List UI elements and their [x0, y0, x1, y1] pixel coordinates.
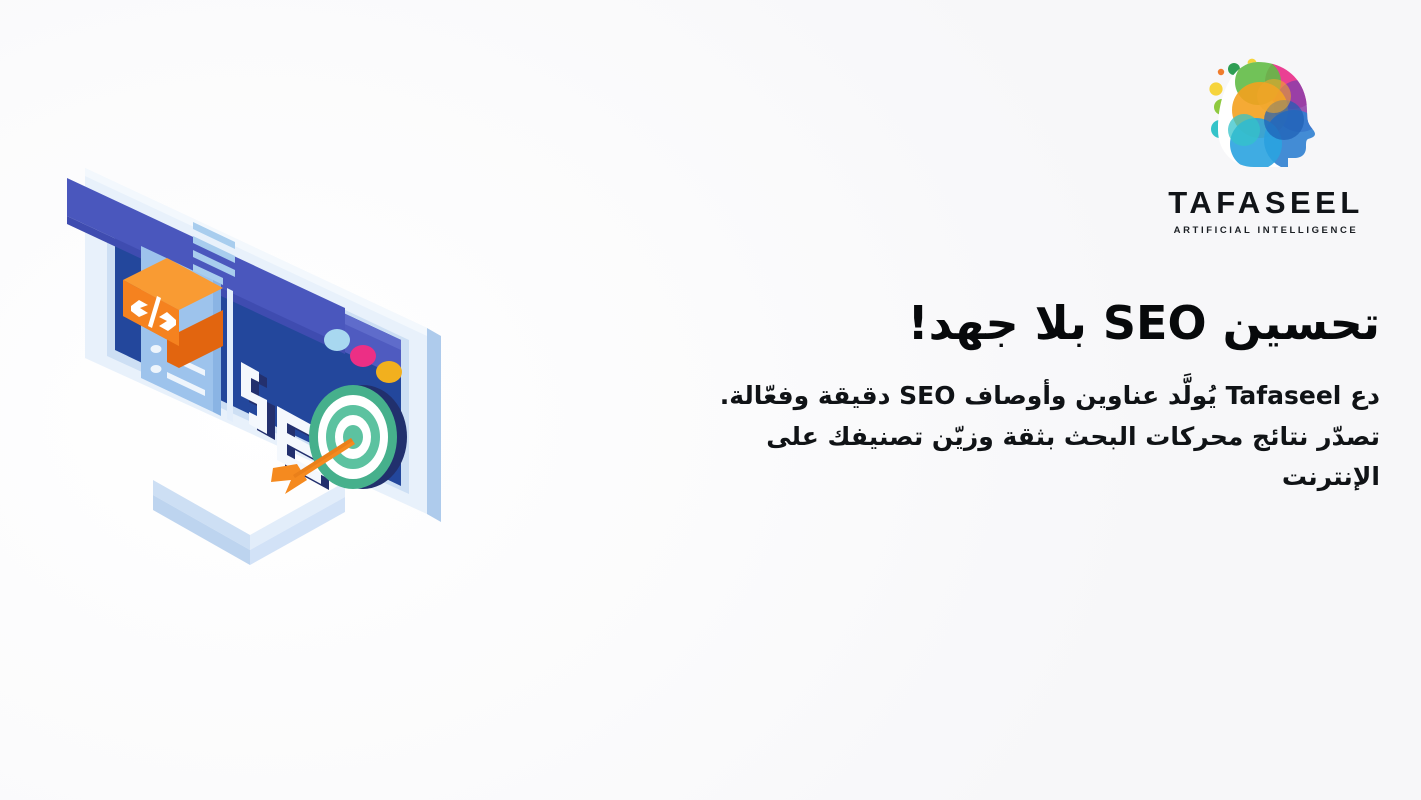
- dartboard-target: [309, 385, 407, 489]
- dot-pink: [350, 345, 376, 367]
- promo-canvas: TAFASEEL ARTIFICIAL INTELLIGENCE تحسين S…: [0, 0, 1421, 800]
- tafaseel-head-logo-icon: [1196, 48, 1336, 173]
- monitor-stand: [153, 480, 345, 565]
- isometric-monitor-svg: [45, 150, 475, 650]
- page-headline: تحسين SEO بلا جهد!: [700, 296, 1380, 350]
- page-body-text: دع Tafaseel يُولَّد عناوين وأوصاف SEO دق…: [700, 376, 1380, 498]
- seo-monitor-illustration: [45, 150, 475, 650]
- dot-light-blue: [324, 329, 350, 351]
- logo-dot-yellow-2: [1209, 82, 1222, 95]
- dot-yellow: [376, 361, 402, 383]
- logo-wordmark: TAFASEEL: [1168, 187, 1364, 218]
- logo-tagline: ARTIFICIAL INTELLIGENCE: [1168, 225, 1364, 236]
- brand-logo-block: TAFASEEL ARTIFICIAL INTELLIGENCE: [1168, 48, 1364, 236]
- copy-block: تحسين SEO بلا جهد! دع Tafaseel يُولَّد ع…: [700, 296, 1380, 498]
- logo-dot-orange: [1218, 69, 1224, 75]
